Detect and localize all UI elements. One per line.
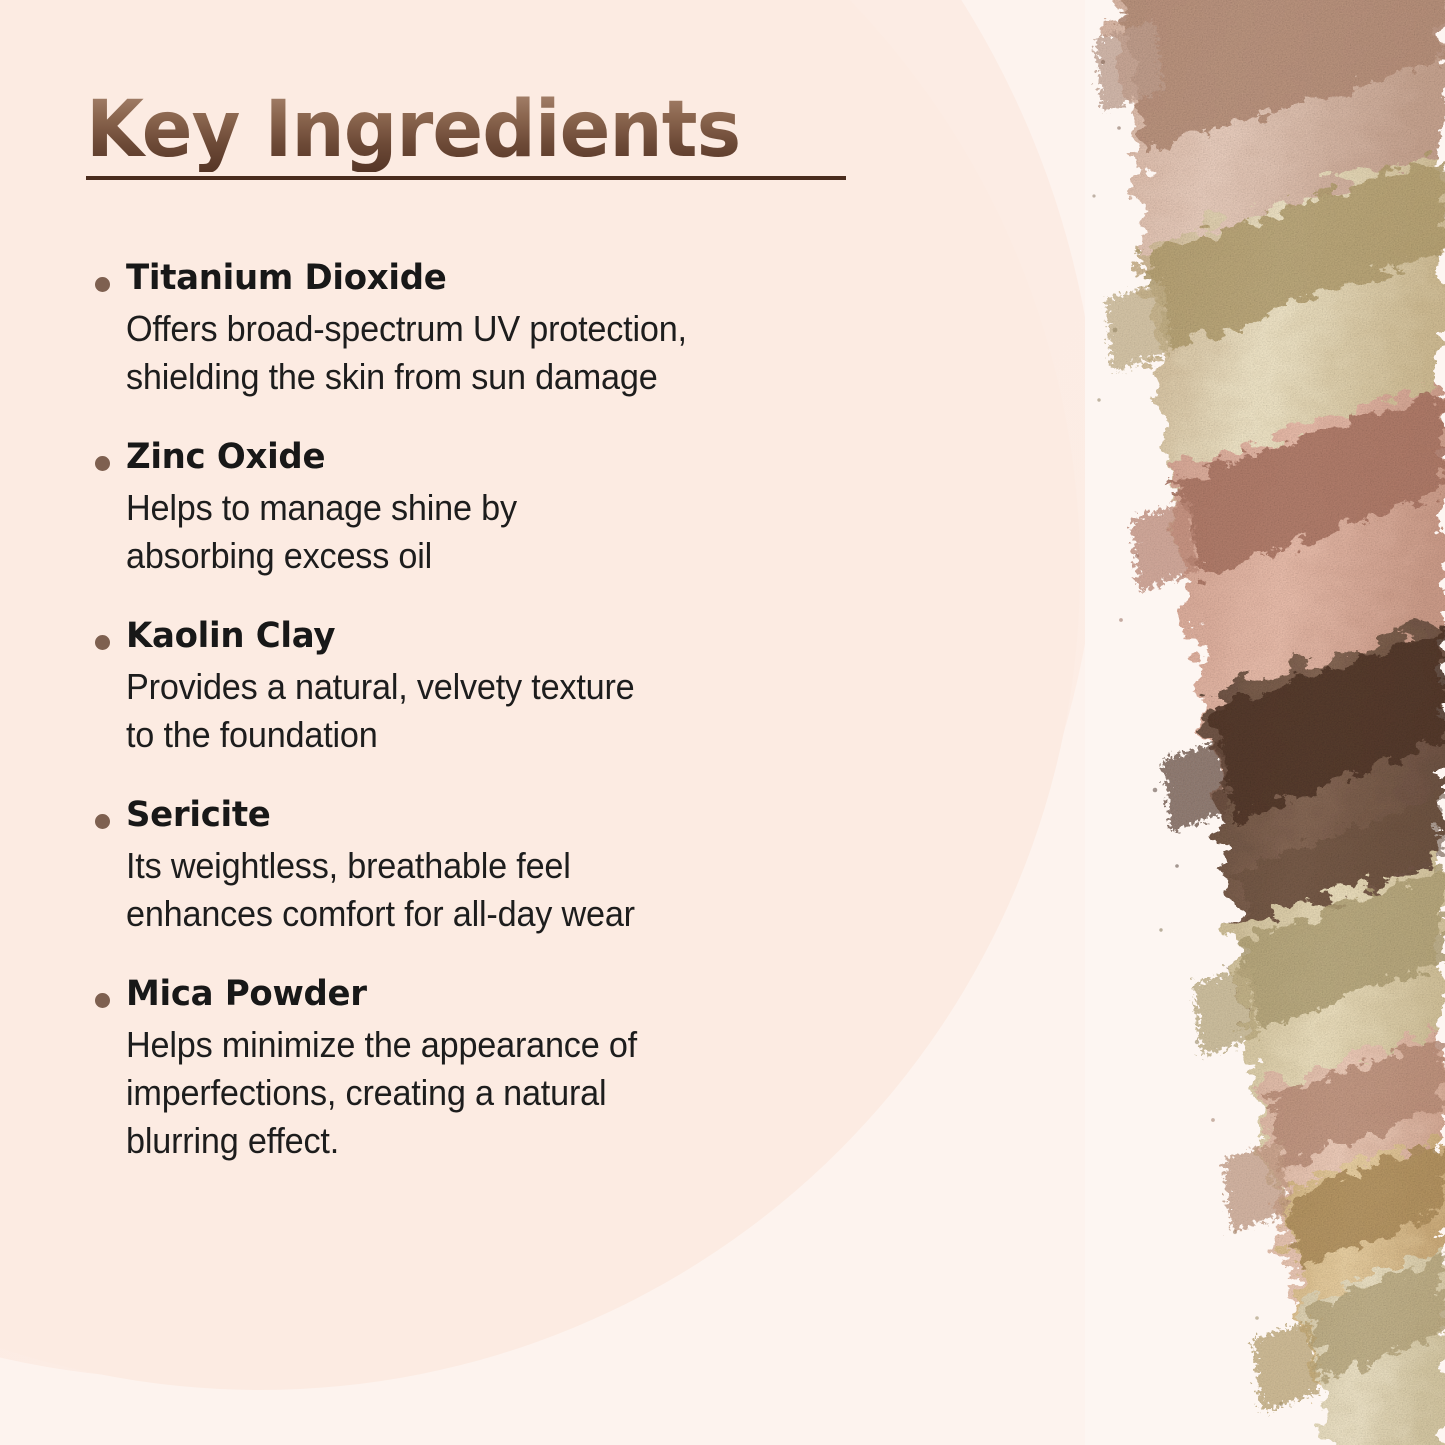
bullet-dot-icon [95,277,110,292]
page-title: Key Ingredients [86,88,825,172]
ingredient-name: Kaolin Clay [126,614,941,658]
ingredient-description: Provides a natural, velvety texture to t… [126,663,924,759]
ingredient-name: Sericite [126,793,941,837]
list-item: Kaolin Clay Provides a natural, velvety … [86,614,966,759]
promo-graphic: Key Ingredients Titanium Dioxide Offers … [0,0,1445,1445]
ingredient-name: Mica Powder [126,972,941,1016]
list-item: Titanium Dioxide Offers broad-spectrum U… [86,256,966,401]
ingredient-name: Zinc Oxide [126,435,941,479]
ingredients-panel: Key Ingredients Titanium Dioxide Offers … [0,0,1000,1445]
ingredient-description: Helps to manage shine by absorbing exces… [126,484,924,580]
ingredient-description: Offers broad-spectrum UV protection, shi… [126,305,924,401]
bullet-dot-icon [95,635,110,650]
title-underline [86,176,846,180]
ingredients-list: Titanium Dioxide Offers broad-spectrum U… [86,256,966,1165]
list-item: Sericite Its weightless, breathable feel… [86,793,966,938]
page-title-wrap: Key Ingredients [86,88,856,172]
list-item: Mica Powder Helps minimize the appearanc… [86,972,966,1165]
bullet-dot-icon [95,456,110,471]
bullet-dot-icon [95,814,110,829]
ingredient-name: Titanium Dioxide [126,256,941,300]
ingredient-description: Its weightless, breathable feel enhances… [126,842,924,938]
list-item: Zinc Oxide Helps to manage shine by abso… [86,435,966,580]
ingredient-description: Helps minimize the appearance of imperfe… [126,1021,924,1165]
bullet-dot-icon [95,993,110,1008]
powder-swatch-image [1085,0,1445,1445]
